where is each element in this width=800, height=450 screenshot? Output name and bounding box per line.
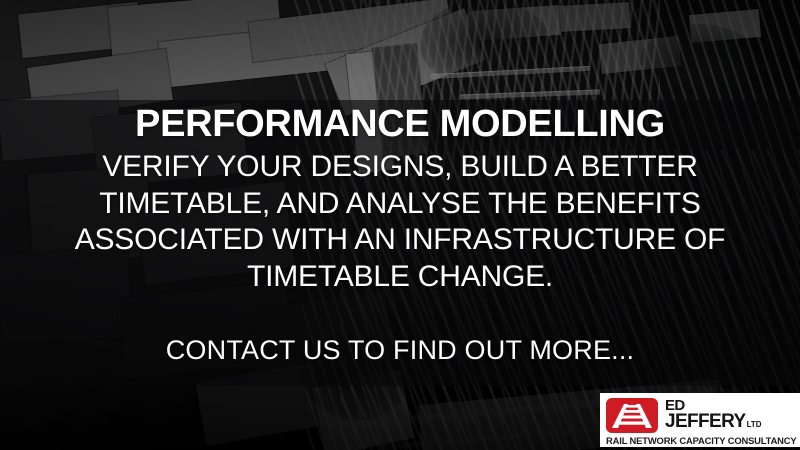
promotional-banner: PERFORMANCE MODELLING VERIFY YOUR DESIGN… [0,0,800,450]
logo-tagline: RAIL NETWORK CAPACITY CONSULTANCY [606,435,796,446]
body-line-4: TIMETABLE CHANGE. [70,259,730,296]
logo-primary-row: ED JEFFERYLTD [606,397,796,433]
logo-line-2-text: JEFFERY [665,413,746,430]
logo-wordmark: ED JEFFERYLTD [665,399,762,430]
railway-track-icon [606,398,658,433]
body-line-3: ASSOCIATED WITH AN INFRASTRUCTURE OF [70,222,730,259]
call-to-action-text: CONTACT US TO FIND OUT MORE... [0,335,800,366]
banner-body: VERIFY YOUR DESIGNS, BUILD A BETTER TIME… [70,149,730,295]
logo-line-2: JEFFERYLTD [665,413,762,430]
page-title: PERFORMANCE MODELLING [0,104,800,145]
company-logo[interactable]: ED JEFFERYLTD RAIL NETWORK CAPACITY CONS… [600,393,800,447]
body-line-2: TIMETABLE, AND ANALYSE THE BENEFITS [70,186,730,223]
body-line-1: VERIFY YOUR DESIGNS, BUILD A BETTER [70,149,730,186]
logo-suffix: LTD [747,421,762,428]
banner-copy: PERFORMANCE MODELLING VERIFY YOUR DESIGN… [0,104,800,366]
